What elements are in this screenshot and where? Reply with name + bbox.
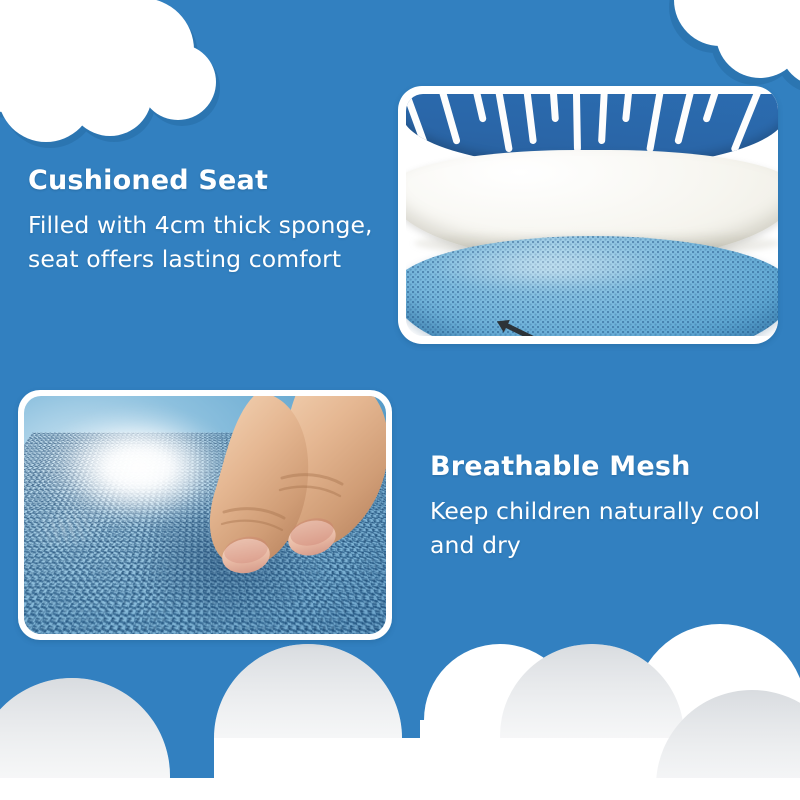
hand-pressing-mesh-photo xyxy=(162,396,386,616)
cushioned-seat-photo-panel xyxy=(398,86,778,344)
mesh-seat-cushion xyxy=(406,236,778,336)
cushioned-seat-title: Cushioned Seat xyxy=(28,166,388,196)
cushioned-seat-description-line-1: Filled with 4cm thick sponge, xyxy=(28,208,388,242)
cushioned-seat-description: Filled with 4cm thick sponge, seat offer… xyxy=(28,208,388,276)
breathable-mesh-photo-panel xyxy=(18,390,392,640)
cushioned-seat-description-line-2: seat offers lasting comfort xyxy=(28,242,388,276)
breathable-mesh-title: Breathable Mesh xyxy=(430,452,780,482)
cushion-highlight xyxy=(424,244,673,293)
breathable-mesh-description-line-1: Keep children naturally cool xyxy=(430,494,780,528)
cushioned-seat-text-block: Cushioned Seat Filled with 4cm thick spo… xyxy=(28,166,388,276)
breathable-mesh-photo-frame xyxy=(24,396,386,634)
mesh-light-streaks xyxy=(25,494,182,634)
cloud-top-left-icon xyxy=(0,0,234,154)
breathable-mesh-description: Keep children naturally cool and dry xyxy=(430,494,780,562)
breathable-mesh-fabric-photo xyxy=(24,396,386,634)
breathable-mesh-description-line-2: and dry xyxy=(430,528,780,562)
product-feature-infographic: Cushioned Seat Filled with 4cm thick spo… xyxy=(0,0,800,800)
cloud-bottom-icon xyxy=(0,628,800,800)
cushioned-seat-photo-frame xyxy=(406,94,778,336)
breathable-mesh-text-block: Breathable Mesh Keep children naturally … xyxy=(430,452,780,562)
chair-seat-cross-section-photo xyxy=(406,94,778,336)
